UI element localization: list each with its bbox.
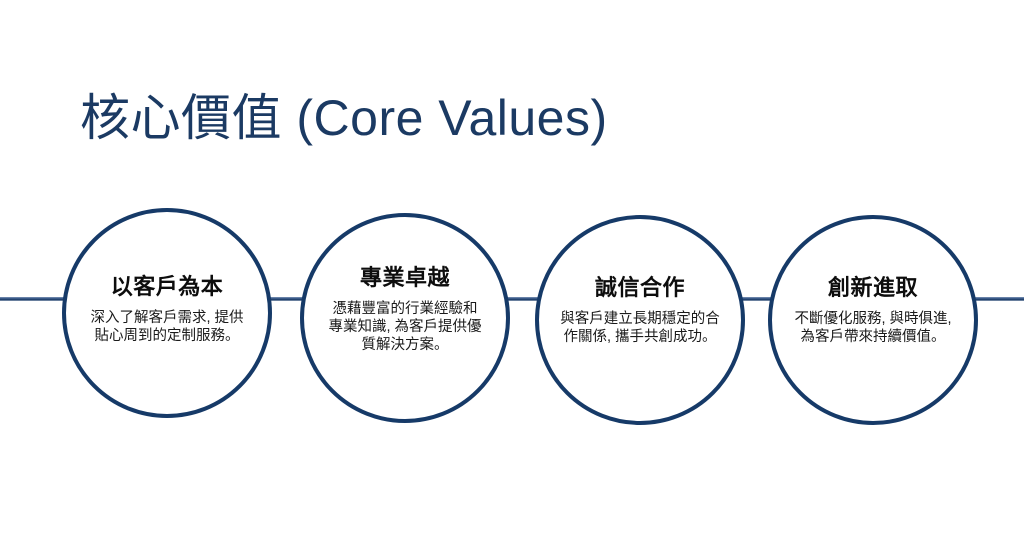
core-values-group: 以客戶為本 深入了解客戶需求, 提供貼心周到的定制服務。 專業卓越 憑藉豐富的行… [0,0,1024,558]
value-circle-2-heading: 專業卓越 [360,265,450,291]
value-circle-4-body: 不斷優化服務, 與時俱進, 為客戶帶來持續價值。 [790,310,956,346]
value-circle-4-heading: 創新進取 [828,275,918,301]
value-circle-3-body: 與客戶建立長期穩定的合作關係, 攜手共創成功。 [559,310,721,346]
value-circle-3-heading: 誠信合作 [595,275,685,301]
value-circle-2[interactable]: 專業卓越 憑藉豐富的行業經驗和專業知識, 為客戶提供優質解決方案。 [300,213,510,423]
value-circle-3[interactable]: 誠信合作 與客戶建立長期穩定的合作關係, 攜手共創成功。 [535,215,745,425]
value-circle-2-body: 憑藉豐富的行業經驗和專業知識, 為客戶提供優質解決方案。 [326,300,484,354]
value-circle-1-heading: 以客戶為本 [111,274,224,300]
value-circle-1-body: 深入了解客戶需求, 提供貼心周到的定制服務。 [86,309,248,345]
value-circle-4[interactable]: 創新進取 不斷優化服務, 與時俱進, 為客戶帶來持續價值。 [768,215,978,425]
value-circle-1[interactable]: 以客戶為本 深入了解客戶需求, 提供貼心周到的定制服務。 [62,208,272,418]
slide-canvas: 核心價值 (Core Values) 以客戶為本 深入了解客戶需求, 提供貼心周… [0,0,1024,558]
